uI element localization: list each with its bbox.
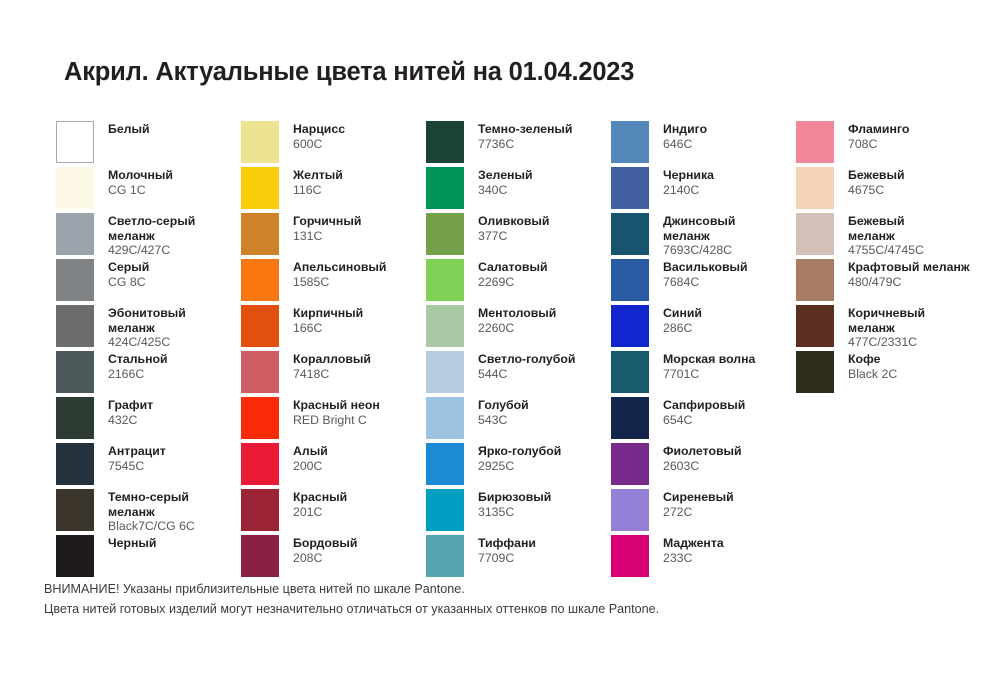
swatch-labels: Коралловый7418C <box>293 351 371 381</box>
color-swatch[interactable] <box>56 443 94 485</box>
swatch-name-continued: меланж <box>108 321 186 336</box>
swatch-row[interactable]: Светло-голубой544C <box>426 351 611 397</box>
swatch-name: Бежевый <box>848 168 905 183</box>
swatch-pantone-code: 7736C <box>478 137 572 152</box>
swatch-name-continued: меланж <box>108 505 195 520</box>
swatch-pantone-code: 7693C/428C <box>663 243 735 258</box>
swatch-row[interactable]: Синий286C <box>611 305 796 351</box>
swatch-name: Кофе <box>848 352 897 367</box>
swatch-pantone-code: 116C <box>293 183 343 198</box>
color-swatch[interactable] <box>611 351 649 393</box>
swatch-grid: БелыйМолочныйCG 1CСветло-серыймеланж429C… <box>56 121 966 581</box>
swatch-row[interactable]: Черника2140C <box>611 167 796 213</box>
swatch-pantone-code: 2603C <box>663 459 742 474</box>
swatch-labels: Голубой543C <box>478 397 529 427</box>
color-swatch[interactable] <box>426 121 464 163</box>
swatch-labels: МолочныйCG 1C <box>108 167 173 197</box>
swatch-name: Красный <box>293 490 347 505</box>
color-swatch[interactable] <box>426 397 464 439</box>
swatch-name: Горчичный <box>293 214 361 229</box>
swatch-pantone-code: CG 8C <box>108 275 149 290</box>
swatch-pantone-code: 7709C <box>478 551 536 566</box>
swatch-name-continued: меланж <box>108 229 195 244</box>
color-swatch[interactable] <box>56 351 94 393</box>
swatch-row[interactable]: Маджента233C <box>611 535 796 581</box>
swatch-row[interactable]: КофеBlack 2C <box>796 351 971 397</box>
color-swatch[interactable] <box>56 397 94 439</box>
page-title: Акрил. Актуальные цвета нитей на 01.04.2… <box>64 58 634 87</box>
color-swatch[interactable] <box>241 305 279 347</box>
swatch-row[interactable]: Светло-серыймеланж429C/427C <box>56 213 241 259</box>
color-swatch[interactable] <box>56 259 94 301</box>
swatch-name: Бежевый <box>848 214 924 229</box>
swatch-row[interactable]: Бежевыймеланж4755C/4745C <box>796 213 971 259</box>
swatch-labels: Васильковый7684C <box>663 259 748 289</box>
swatch-row[interactable]: Антрацит7545C <box>56 443 241 489</box>
color-swatch[interactable] <box>611 489 649 531</box>
swatch-labels: Бежевыймеланж4755C/4745C <box>848 213 924 258</box>
swatch-pantone-code: 2925C <box>478 459 561 474</box>
swatch-row[interactable]: Красный неонRED Bright C <box>241 397 426 443</box>
color-swatch[interactable] <box>796 351 834 393</box>
swatch-labels: Бордовый208C <box>293 535 358 565</box>
swatch-pantone-code: 708C <box>848 137 909 152</box>
color-swatch[interactable] <box>796 167 834 209</box>
swatch-pantone-code: 7418C <box>293 367 371 382</box>
swatch-name: Красный неон <box>293 398 380 413</box>
swatch-labels: Апельсиновый1585C <box>293 259 386 289</box>
color-swatch[interactable] <box>241 535 279 577</box>
swatch-labels: Черный <box>108 535 156 551</box>
footer-notes: ВНИМАНИЕ! Указаны приблизительные цвета … <box>44 580 659 619</box>
swatch-labels: Коричневыймеланж477C/2331C <box>848 305 925 350</box>
swatch-row[interactable]: Оливковый377C <box>426 213 611 259</box>
swatch-row[interactable]: Морская волна7701C <box>611 351 796 397</box>
swatch-labels: Сапфировый654C <box>663 397 745 427</box>
color-swatch[interactable] <box>611 213 649 255</box>
color-swatch[interactable] <box>426 167 464 209</box>
swatch-name: Нарцисс <box>293 122 345 137</box>
swatch-labels: Зеленый340C <box>478 167 533 197</box>
swatch-row[interactable]: Бордовый208C <box>241 535 426 581</box>
swatch-name: Серый <box>108 260 149 275</box>
color-swatch[interactable] <box>611 121 649 163</box>
swatch-row[interactable]: Ярко-голубой2925C <box>426 443 611 489</box>
color-swatch[interactable] <box>426 305 464 347</box>
swatch-labels: Графит432C <box>108 397 153 427</box>
color-swatch[interactable] <box>611 167 649 209</box>
swatch-labels: Нарцисс600C <box>293 121 345 151</box>
swatch-name: Светло-серый <box>108 214 195 229</box>
swatch-labels: Горчичный131C <box>293 213 361 243</box>
swatch-name: Коричневый <box>848 306 925 321</box>
swatch-labels: Джинсовыймеланж7693C/428C <box>663 213 735 258</box>
swatch-pantone-code: 200C <box>293 459 328 474</box>
swatch-name: Темно-серый <box>108 490 195 505</box>
swatch-pantone-code: 166C <box>293 321 363 336</box>
swatch-name-continued: меланж <box>848 321 925 336</box>
color-swatch[interactable] <box>611 535 649 577</box>
swatch-row[interactable]: Стальной2166C <box>56 351 241 397</box>
swatch-name: Темно-зеленый <box>478 122 572 137</box>
color-swatch[interactable] <box>241 397 279 439</box>
swatch-row[interactable]: Джинсовыймеланж7693C/428C <box>611 213 796 259</box>
footer-note-line-2: Цвета нитей готовых изделий могут незнач… <box>44 600 659 620</box>
swatch-pantone-code: 646C <box>663 137 707 152</box>
swatch-name: Фиолетовый <box>663 444 742 459</box>
swatch-labels: Светло-голубой544C <box>478 351 575 381</box>
footer-note-line-1: ВНИМАНИЕ! Указаны приблизительные цвета … <box>44 580 659 600</box>
swatch-labels: Темно-серыймеланжBlack7C/CG 6C <box>108 489 195 534</box>
swatch-name: Эбонитовый <box>108 306 186 321</box>
swatch-name: Бордовый <box>293 536 358 551</box>
swatch-labels: Алый200C <box>293 443 328 473</box>
swatch-pantone-code: 4755C/4745C <box>848 243 924 258</box>
color-swatch[interactable] <box>241 121 279 163</box>
swatch-pantone-code: Black7C/CG 6C <box>108 519 195 534</box>
swatch-name: Ярко-голубой <box>478 444 561 459</box>
swatch-row[interactable]: Темно-зеленый7736C <box>426 121 611 167</box>
swatch-pantone-code: RED Bright C <box>293 413 380 428</box>
color-swatch[interactable] <box>426 489 464 531</box>
swatch-pantone-code: 340C <box>478 183 533 198</box>
swatch-pantone-code: 272C <box>663 505 734 520</box>
swatch-pantone-code: 3135C <box>478 505 551 520</box>
swatch-row[interactable]: Горчичный131C <box>241 213 426 259</box>
swatch-labels: Кирпичный166C <box>293 305 363 335</box>
color-swatch[interactable] <box>426 213 464 255</box>
swatch-pantone-code: 424C/425C <box>108 335 186 350</box>
swatch-labels: Синий286C <box>663 305 702 335</box>
column-pinks-browns: Фламинго708CБежевый4675CБежевыймеланж475… <box>796 121 971 397</box>
swatch-labels: Фиолетовый2603C <box>663 443 742 473</box>
swatch-row[interactable]: Тиффани7709C <box>426 535 611 581</box>
swatch-labels: Черника2140C <box>663 167 714 197</box>
swatch-name: Алый <box>293 444 328 459</box>
swatch-name-continued: меланж <box>663 229 735 244</box>
swatch-row[interactable]: Бежевый4675C <box>796 167 971 213</box>
swatch-name: Джинсовый <box>663 214 735 229</box>
swatch-name: Синий <box>663 306 702 321</box>
swatch-name: Голубой <box>478 398 529 413</box>
color-swatch[interactable] <box>611 443 649 485</box>
swatch-labels: Маджента233C <box>663 535 724 565</box>
swatch-row[interactable]: Желтый116C <box>241 167 426 213</box>
color-swatch[interactable] <box>426 535 464 577</box>
color-swatch[interactable] <box>241 213 279 255</box>
swatch-pantone-code: 543C <box>478 413 529 428</box>
color-swatch[interactable] <box>611 305 649 347</box>
swatch-labels: Оливковый377C <box>478 213 549 243</box>
column-warm: Нарцисс600CЖелтый116CГорчичный131CАпельс… <box>241 121 426 581</box>
swatch-labels: Ярко-голубой2925C <box>478 443 561 473</box>
swatch-name: Васильковый <box>663 260 748 275</box>
color-swatch[interactable] <box>796 121 834 163</box>
column-blues-purples: Индиго646CЧерника2140CДжинсовыймеланж769… <box>611 121 796 581</box>
swatch-pantone-code: 2166C <box>108 367 168 382</box>
swatch-labels: Красный201C <box>293 489 347 519</box>
swatch-pantone-code: 233C <box>663 551 724 566</box>
swatch-row[interactable]: Коричневыймеланж477C/2331C <box>796 305 971 351</box>
swatch-row[interactable]: Коралловый7418C <box>241 351 426 397</box>
swatch-name: Сапфировый <box>663 398 745 413</box>
swatch-labels: Светло-серыймеланж429C/427C <box>108 213 195 258</box>
swatch-name: Зеленый <box>478 168 533 183</box>
color-swatch[interactable] <box>241 489 279 531</box>
swatch-name: Желтый <box>293 168 343 183</box>
color-swatch[interactable] <box>796 213 834 255</box>
swatch-row[interactable]: Зеленый340C <box>426 167 611 213</box>
swatch-pantone-code: 544C <box>478 367 575 382</box>
swatch-name: Тиффани <box>478 536 536 551</box>
swatch-pantone-code: 600C <box>293 137 345 152</box>
swatch-row[interactable]: Ментоловый2260C <box>426 305 611 351</box>
swatch-pantone-code: 208C <box>293 551 358 566</box>
swatch-pantone-code: 4675C <box>848 183 905 198</box>
swatch-row[interactable]: Темно-серыймеланжBlack7C/CG 6C <box>56 489 241 535</box>
column-neutrals: БелыйМолочныйCG 1CСветло-серыймеланж429C… <box>56 121 241 581</box>
swatch-row[interactable]: Красный201C <box>241 489 426 535</box>
color-swatch[interactable] <box>426 259 464 301</box>
swatch-row[interactable]: Эбонитовыймеланж424C/425C <box>56 305 241 351</box>
color-swatch[interactable] <box>56 213 94 255</box>
swatch-labels: Салатовый2269C <box>478 259 548 289</box>
swatch-labels: Индиго646C <box>663 121 707 151</box>
swatch-pantone-code: CG 1C <box>108 183 173 198</box>
swatch-row[interactable]: Нарцисс600C <box>241 121 426 167</box>
swatch-pantone-code: 286C <box>663 321 702 336</box>
swatch-pantone-code: 480/479C <box>848 275 970 290</box>
swatch-name: Белый <box>108 122 150 137</box>
swatch-row[interactable]: Кирпичный166C <box>241 305 426 351</box>
swatch-name: Бирюзовый <box>478 490 551 505</box>
swatch-pantone-code: 654C <box>663 413 745 428</box>
swatch-row[interactable]: Сиреневый272C <box>611 489 796 535</box>
color-chart-page: Акрил. Актуальные цвета нитей на 01.04.2… <box>0 0 1000 683</box>
swatch-pantone-code: 7545C <box>108 459 166 474</box>
swatch-name: Светло-голубой <box>478 352 575 367</box>
color-swatch[interactable] <box>796 305 834 347</box>
swatch-pantone-code: 131C <box>293 229 361 244</box>
swatch-pantone-code: 429C/427C <box>108 243 195 258</box>
swatch-labels: СерыйCG 8C <box>108 259 149 289</box>
swatch-name: Фламинго <box>848 122 909 137</box>
swatch-labels: Антрацит7545C <box>108 443 166 473</box>
color-swatch[interactable] <box>56 489 94 531</box>
color-swatch[interactable] <box>241 351 279 393</box>
swatch-row[interactable]: Черный <box>56 535 241 581</box>
color-swatch[interactable] <box>426 443 464 485</box>
color-swatch[interactable] <box>611 259 649 301</box>
swatch-labels: Морская волна7701C <box>663 351 755 381</box>
swatch-row[interactable]: Крафтовый меланж480/479C <box>796 259 971 305</box>
swatch-row[interactable]: Фламинго708C <box>796 121 971 167</box>
swatch-pantone-code: 432C <box>108 413 153 428</box>
color-swatch[interactable] <box>241 167 279 209</box>
color-swatch[interactable] <box>56 167 94 209</box>
swatch-row[interactable]: Голубой543C <box>426 397 611 443</box>
swatch-row[interactable]: Фиолетовый2603C <box>611 443 796 489</box>
swatch-labels: Крафтовый меланж480/479C <box>848 259 970 289</box>
swatch-name: Салатовый <box>478 260 548 275</box>
swatch-labels: Фламинго708C <box>848 121 909 151</box>
swatch-pantone-code: 2260C <box>478 321 556 336</box>
color-swatch[interactable] <box>56 535 94 577</box>
swatch-pantone-code: 477C/2331C <box>848 335 925 350</box>
swatch-pantone-code: 7701C <box>663 367 755 382</box>
swatch-labels: Ментоловый2260C <box>478 305 556 335</box>
swatch-pantone-code: 2269C <box>478 275 548 290</box>
swatch-name: Оливковый <box>478 214 549 229</box>
color-swatch[interactable] <box>611 397 649 439</box>
swatch-row[interactable]: Индиго646C <box>611 121 796 167</box>
swatch-labels: Темно-зеленый7736C <box>478 121 572 151</box>
swatch-labels: Эбонитовыймеланж424C/425C <box>108 305 186 350</box>
swatch-name: Коралловый <box>293 352 371 367</box>
swatch-pantone-code: 201C <box>293 505 347 520</box>
swatch-name: Ментоловый <box>478 306 556 321</box>
swatch-name: Индиго <box>663 122 707 137</box>
swatch-pantone-code: 2140C <box>663 183 714 198</box>
swatch-name: Кирпичный <box>293 306 363 321</box>
swatch-name-continued: меланж <box>848 229 924 244</box>
swatch-row[interactable]: Бирюзовый3135C <box>426 489 611 535</box>
swatch-row[interactable]: Сапфировый654C <box>611 397 796 443</box>
swatch-labels: Сиреневый272C <box>663 489 734 519</box>
swatch-row[interactable]: Салатовый2269C <box>426 259 611 305</box>
swatch-row[interactable]: СерыйCG 8C <box>56 259 241 305</box>
color-swatch[interactable] <box>426 351 464 393</box>
swatch-row[interactable]: МолочныйCG 1C <box>56 167 241 213</box>
swatch-name: Апельсиновый <box>293 260 386 275</box>
swatch-labels: Тиффани7709C <box>478 535 536 565</box>
color-swatch[interactable] <box>241 443 279 485</box>
swatch-name: Антрацит <box>108 444 166 459</box>
swatch-row[interactable]: Графит432C <box>56 397 241 443</box>
swatch-name: Черный <box>108 536 156 551</box>
swatch-row[interactable]: Алый200C <box>241 443 426 489</box>
color-swatch[interactable] <box>56 121 94 163</box>
swatch-pantone-code: 7684C <box>663 275 748 290</box>
swatch-name: Сиреневый <box>663 490 734 505</box>
color-swatch[interactable] <box>796 259 834 301</box>
swatch-name: Стальной <box>108 352 168 367</box>
column-greens-blues: Темно-зеленый7736CЗеленый340CОливковый37… <box>426 121 611 581</box>
swatch-pantone-code: 1585C <box>293 275 386 290</box>
swatch-labels: Стальной2166C <box>108 351 168 381</box>
swatch-name: Маджента <box>663 536 724 551</box>
color-swatch[interactable] <box>241 259 279 301</box>
swatch-labels: Красный неонRED Bright C <box>293 397 380 427</box>
swatch-name: Морская волна <box>663 352 755 367</box>
swatch-name: Черника <box>663 168 714 183</box>
swatch-labels: Желтый116C <box>293 167 343 197</box>
swatch-labels: КофеBlack 2C <box>848 351 897 381</box>
swatch-labels: Бежевый4675C <box>848 167 905 197</box>
swatch-pantone-code: 377C <box>478 229 549 244</box>
swatch-labels: Белый <box>108 121 150 137</box>
swatch-name: Графит <box>108 398 153 413</box>
swatch-row[interactable]: Белый <box>56 121 241 167</box>
swatch-name: Молочный <box>108 168 173 183</box>
swatch-pantone-code: Black 2C <box>848 367 897 382</box>
swatch-row[interactable]: Васильковый7684C <box>611 259 796 305</box>
swatch-row[interactable]: Апельсиновый1585C <box>241 259 426 305</box>
color-swatch[interactable] <box>56 305 94 347</box>
swatch-labels: Бирюзовый3135C <box>478 489 551 519</box>
swatch-name: Крафтовый меланж <box>848 260 970 275</box>
